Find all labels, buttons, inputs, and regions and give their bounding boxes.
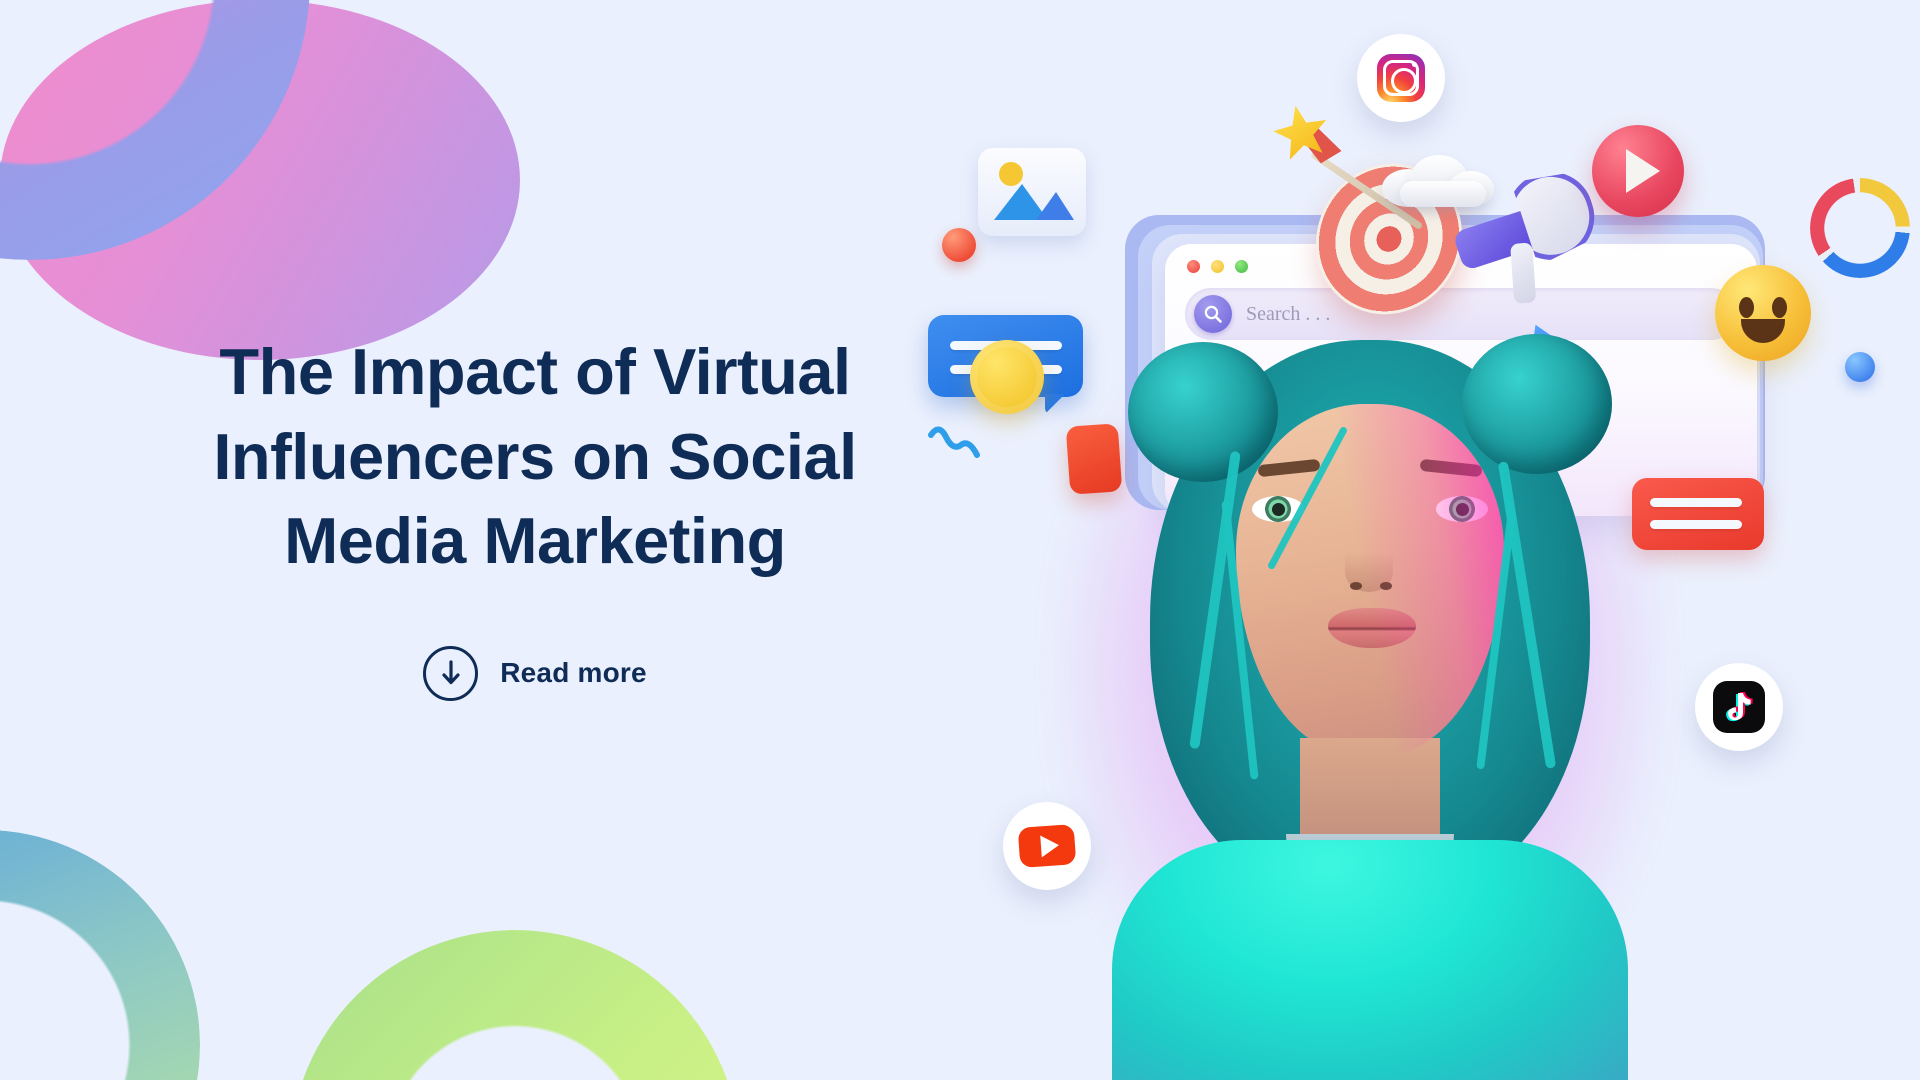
gold-coin-icon: [970, 340, 1044, 414]
youtube-icon: [1018, 824, 1077, 868]
headline-line-3: Media Marketing: [95, 499, 975, 584]
red-sphere-icon: [942, 228, 976, 262]
image-placeholder-icon: [978, 148, 1086, 236]
blue-sphere-icon: [1845, 352, 1875, 382]
donut-chart-icon: [1810, 178, 1910, 278]
window-traffic-lights: [1187, 260, 1248, 273]
maximize-dot-icon[interactable]: [1235, 260, 1248, 273]
hero-illustration: Search . . .: [920, 0, 1920, 1080]
smiley-emoji-icon: [1715, 265, 1811, 361]
instagram-icon: [1377, 54, 1425, 102]
decor-ring-bottom-green: [290, 930, 740, 1080]
minimize-dot-icon[interactable]: [1211, 260, 1224, 273]
decor-ring-top-left: [0, 0, 310, 260]
close-dot-icon[interactable]: [1187, 260, 1200, 273]
tiktok-icon: [1713, 681, 1765, 733]
youtube-badge[interactable]: [1003, 802, 1091, 890]
read-more-button[interactable]: Read more: [423, 646, 647, 701]
play-button-icon[interactable]: [1592, 125, 1684, 217]
decor-blob-top-pink: [0, 0, 520, 360]
read-more-label: Read more: [500, 657, 647, 689]
instagram-badge[interactable]: [1357, 34, 1445, 122]
arrow-down-icon[interactable]: [423, 646, 478, 701]
tiktok-badge[interactable]: [1695, 663, 1783, 751]
decor-ring-bottom-left: [0, 830, 200, 1080]
portrait-image: [1090, 300, 1650, 1080]
hero-text-block: The Impact of Virtual Influencers on Soc…: [95, 330, 975, 701]
red-chat-bubble-icon: [1632, 478, 1764, 550]
page-title: The Impact of Virtual Influencers on Soc…: [95, 330, 975, 584]
headline-line-2: Influencers on Social: [95, 415, 975, 500]
headline-line-1: The Impact of Virtual: [95, 330, 975, 415]
